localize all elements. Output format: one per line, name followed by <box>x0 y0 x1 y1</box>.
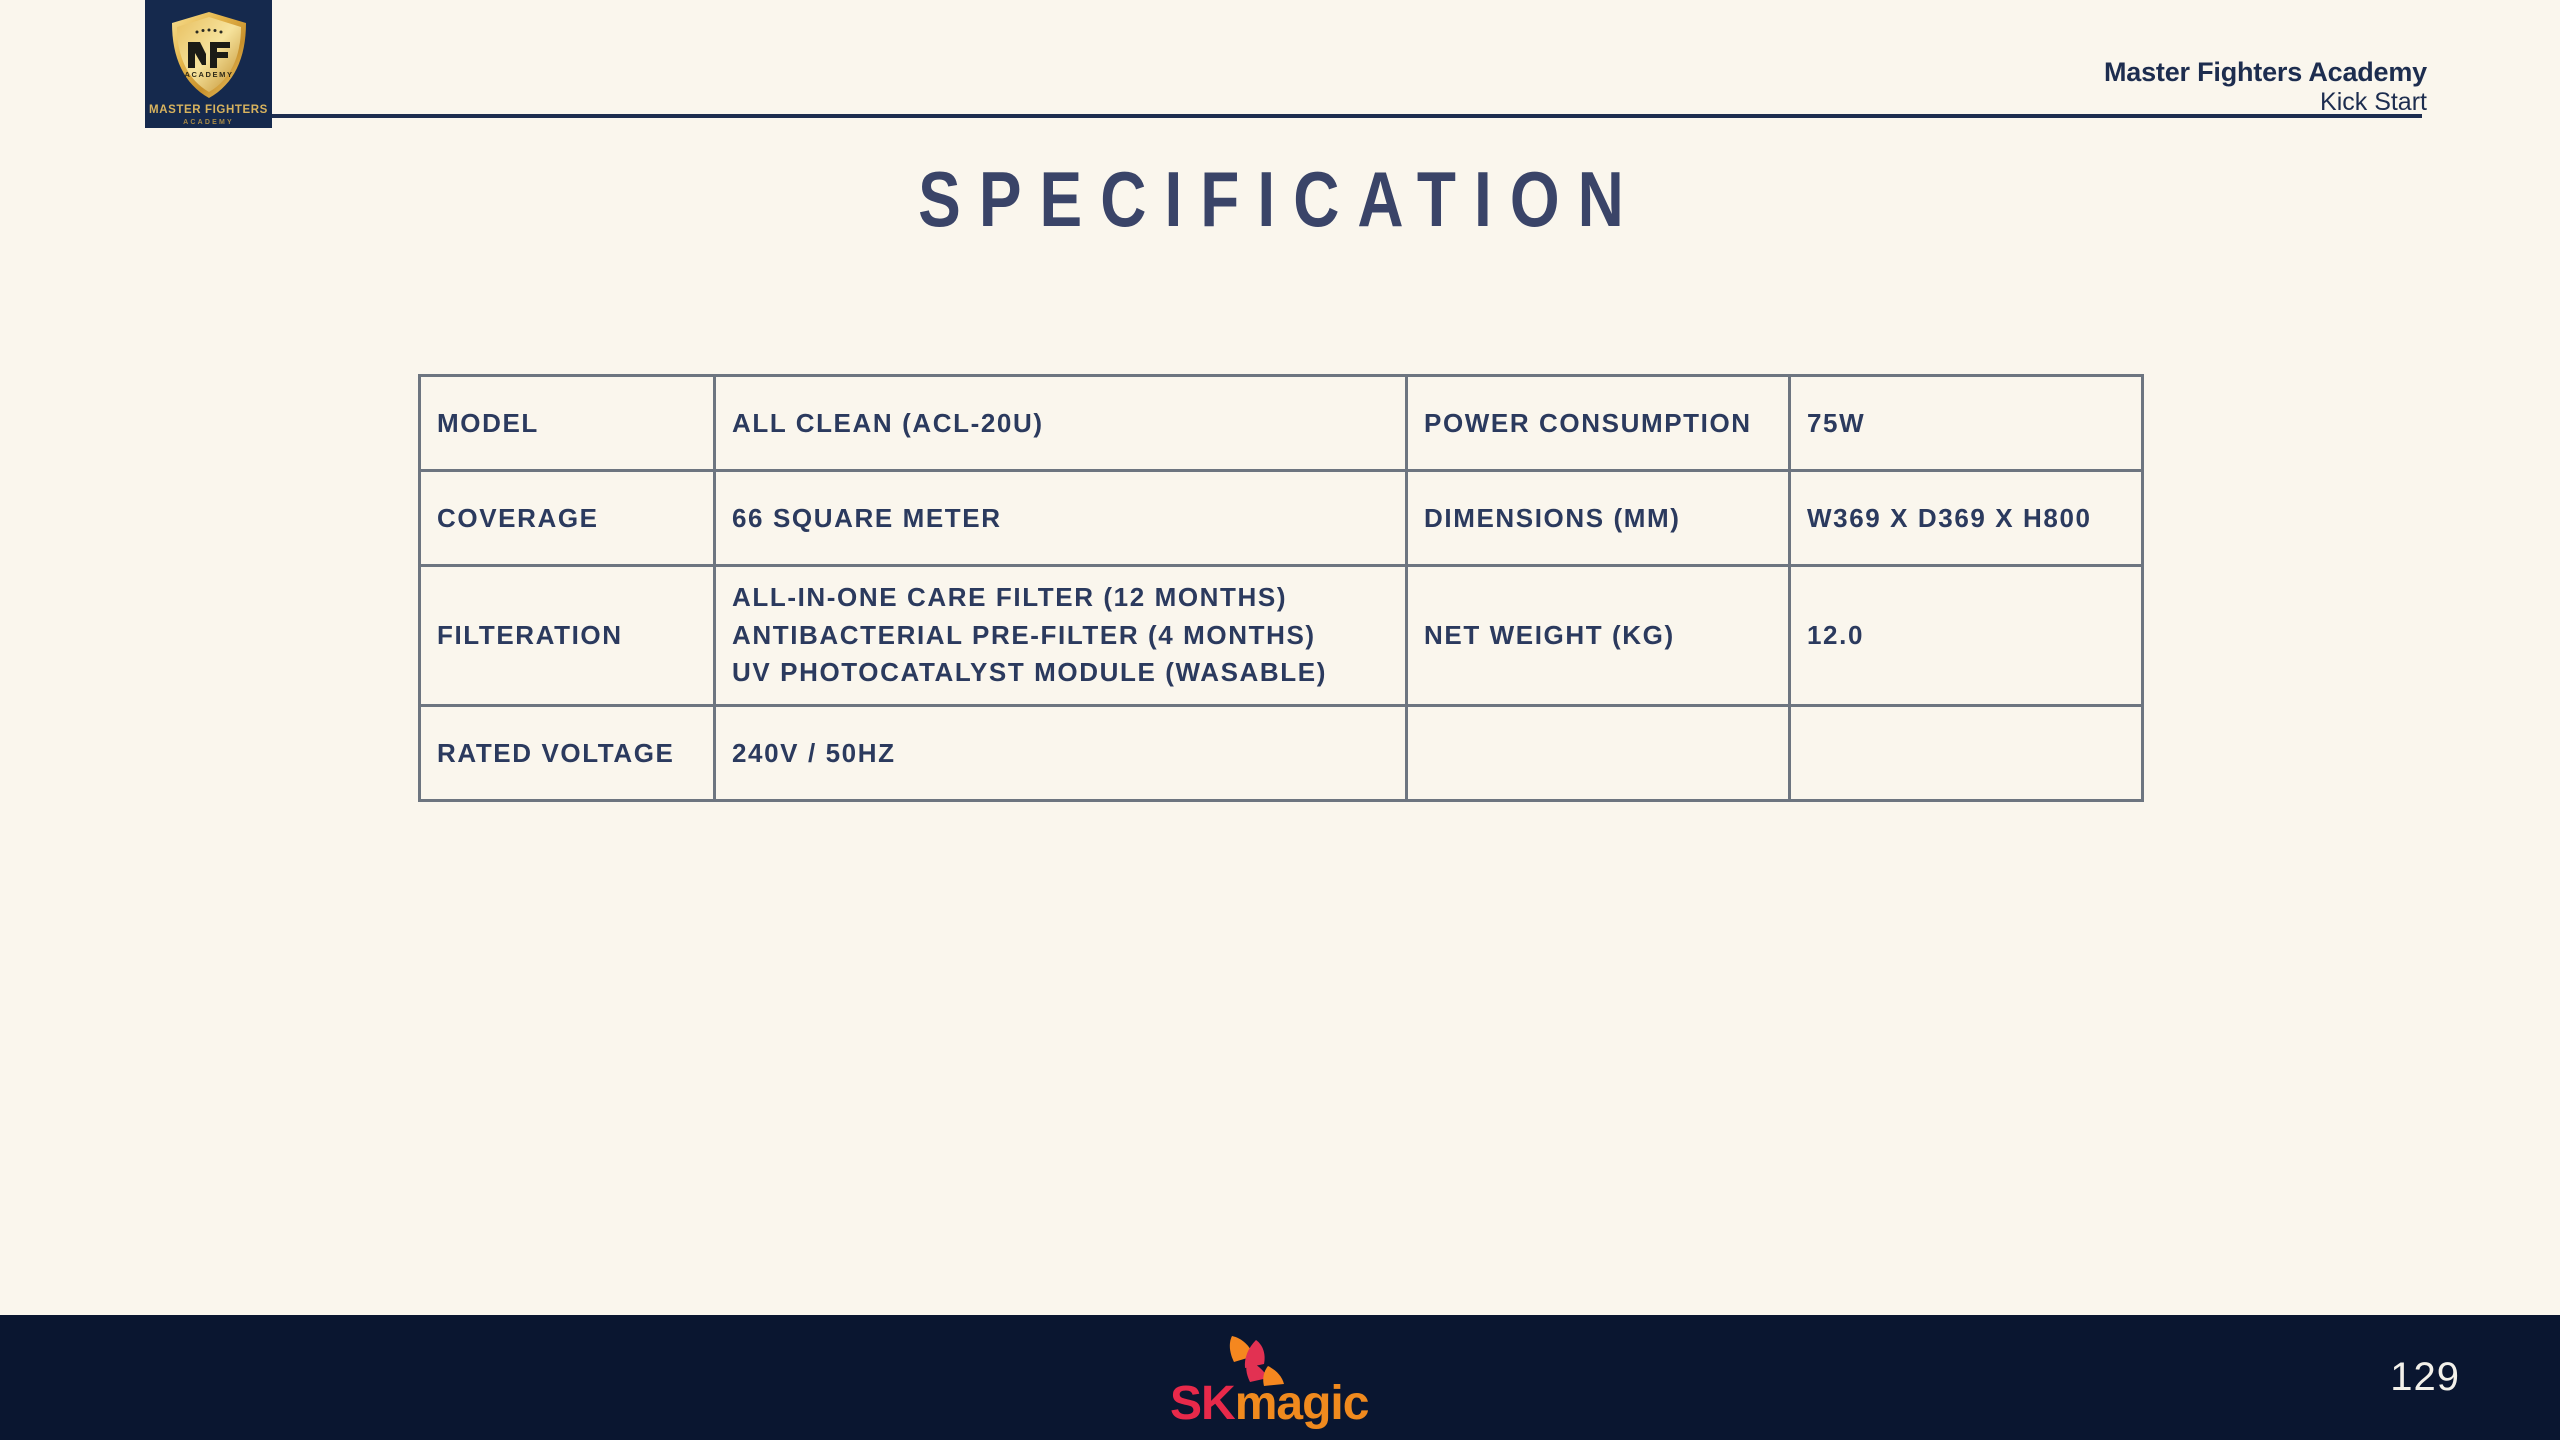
table-row: MODEL ALL CLEAN (ACL-20U) POWER CONSUMPT… <box>420 376 2143 471</box>
specification-table: MODEL ALL CLEAN (ACL-20U) POWER CONSUMPT… <box>418 374 2144 802</box>
slide-specification: ACADEMY MASTER FIGHTERS ACADEMY Master F… <box>0 0 2560 1440</box>
academy-logo-box: ACADEMY MASTER FIGHTERS ACADEMY <box>145 0 272 128</box>
cell-value-net-weight: 12.0 <box>1790 566 2143 706</box>
brand-tagline: Kick Start <box>2104 88 2427 117</box>
table-row: RATED VOLTAGE 240V / 50HZ <box>420 706 2143 801</box>
cell-value-rated-voltage: 240V / 50HZ <box>715 706 1407 801</box>
cell-empty-right-value <box>1790 706 2143 801</box>
cell-label-coverage: COVERAGE <box>420 471 715 566</box>
header-divider-line <box>272 114 2422 118</box>
cell-value-filteration: ALL-IN-ONE CARE FILTER (12 MONTHS) ANTIB… <box>715 566 1407 706</box>
cell-label-net-weight: NET WEIGHT (KG) <box>1407 566 1790 706</box>
magic-word: magic <box>1235 1377 1369 1430</box>
cell-label-filteration: FILTERATION <box>420 566 715 706</box>
table-row: COVERAGE 66 SQUARE METER DIMENSIONS (MM)… <box>420 471 2143 566</box>
academy-logo-caption: MASTER FIGHTERS ACADEMY <box>149 105 268 126</box>
cell-label-dimensions: DIMENSIONS (MM) <box>1407 471 1790 566</box>
filteration-line-2: ANTIBACTERIAL PRE-FILTER (4 MONTHS) <box>732 617 1389 654</box>
page-title: SPECIFICATION <box>230 160 2329 238</box>
cell-label-model: MODEL <box>420 376 715 471</box>
brand-block: Master Fighters Academy Kick Start <box>2104 58 2427 117</box>
cell-empty-right-label <box>1407 706 1790 801</box>
brand-name: Master Fighters Academy <box>2104 58 2427 86</box>
cell-label-power-consumption: POWER CONSUMPTION <box>1407 376 1790 471</box>
page-number: 129 <box>2390 1355 2460 1400</box>
cell-value-model: ALL CLEAN (ACL-20U) <box>715 376 1407 471</box>
filteration-line-3: UV PHOTOCATALYST MODULE (WASABLE) <box>732 654 1389 691</box>
sk-word: SK <box>1170 1377 1235 1430</box>
sk-magic-logo: SKmagic <box>1170 1334 1390 1430</box>
mf-shield-logo-icon: ACADEMY <box>166 10 252 102</box>
cell-value-dimensions: W369 X D369 X H800 <box>1790 471 2143 566</box>
sk-magic-wordmark: SKmagic <box>1170 1380 1390 1428</box>
table-row: FILTERATION ALL-IN-ONE CARE FILTER (12 M… <box>420 566 2143 706</box>
logo-caption-line2: ACADEMY <box>149 119 268 126</box>
cell-value-power-consumption: 75W <box>1790 376 2143 471</box>
logo-caption-line1: MASTER FIGHTERS <box>149 105 268 117</box>
filteration-line-1: ALL-IN-ONE CARE FILTER (12 MONTHS) <box>732 579 1389 616</box>
cell-value-coverage: 66 SQUARE METER <box>715 471 1407 566</box>
svg-text:ACADEMY: ACADEMY <box>184 70 233 79</box>
cell-label-rated-voltage: RATED VOLTAGE <box>420 706 715 801</box>
